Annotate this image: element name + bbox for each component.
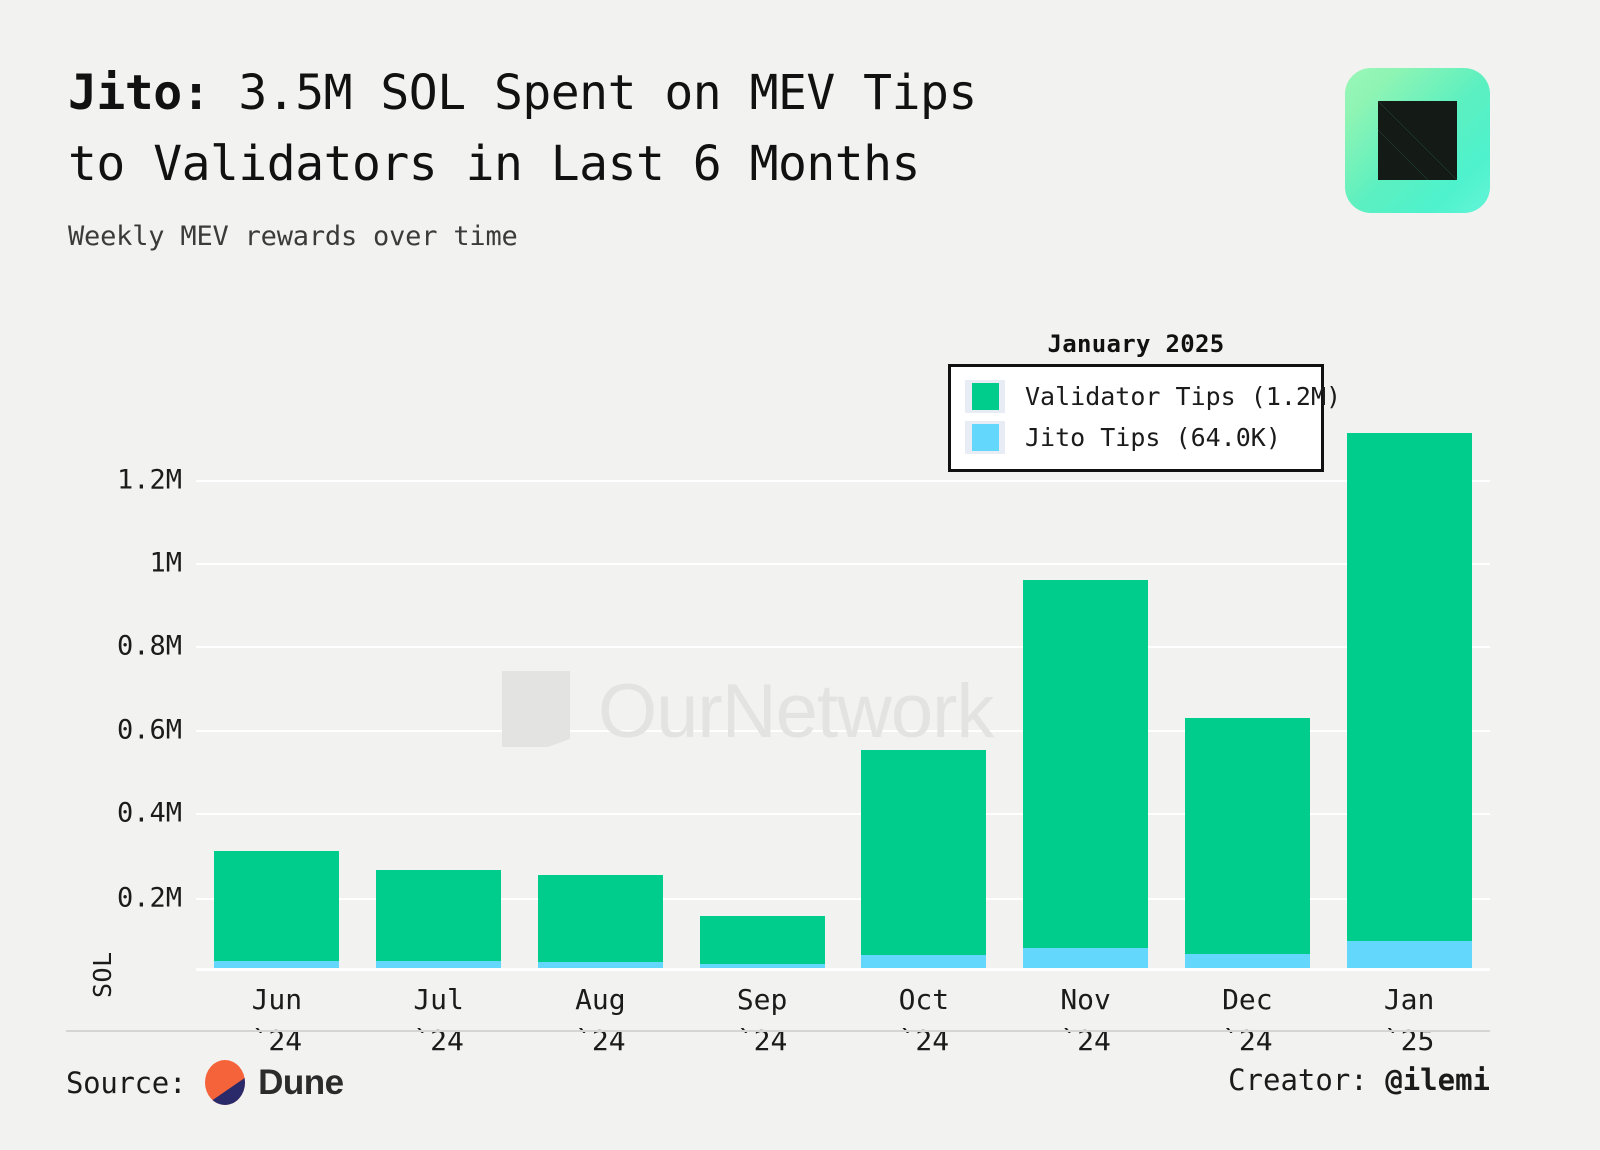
x-tick-aug: Aug`24: [520, 980, 682, 1061]
x-tick-month: Oct: [899, 983, 950, 1016]
source-label: Source:: [66, 1066, 186, 1100]
stacked-bar[interactable]: [861, 750, 986, 968]
stacked-bar[interactable]: [1023, 580, 1148, 968]
bar-segment-jito-tips[interactable]: [1185, 954, 1310, 968]
x-tick-nov: Nov`24: [1005, 980, 1167, 1061]
legend-label: Validator Tips (1.2M): [1025, 382, 1341, 411]
bar-segment-jito-tips[interactable]: [861, 955, 986, 968]
bar-group-aug[interactable]: [520, 390, 682, 968]
x-tick-month: Jun: [252, 983, 303, 1016]
y-tick-label: 0.2M: [117, 883, 182, 914]
x-tick-month: Jul: [413, 983, 464, 1016]
bar-segment-validator-tips[interactable]: [861, 750, 986, 955]
y-tick-label: 0.8M: [117, 631, 182, 662]
bar-group-nov[interactable]: [1005, 390, 1167, 968]
y-tick-label: 1.2M: [117, 465, 182, 496]
jito-tips-swatch: [965, 421, 1005, 454]
x-tick-jun: Jun`24: [196, 980, 358, 1061]
bar-segment-jito-tips[interactable]: [1023, 948, 1148, 968]
legend-title: January 2025: [948, 330, 1324, 358]
stacked-bar[interactable]: [1347, 433, 1472, 968]
page-subtitle: Weekly MEV rewards over time: [68, 221, 1368, 252]
legend-item-jito-tips[interactable]: Jito Tips (64.0K): [965, 417, 1307, 458]
x-tick-month: Jan: [1384, 983, 1435, 1016]
x-tick-month: Dec: [1222, 983, 1273, 1016]
bar-series-container: [196, 390, 1490, 968]
footer-divider: [66, 1030, 1490, 1032]
legend-item-validator-tips[interactable]: Validator Tips (1.2M): [965, 376, 1307, 417]
bar-segment-jito-tips[interactable]: [1347, 941, 1472, 968]
x-tick-oct: Oct`24: [843, 980, 1005, 1061]
x-tick-month: Nov: [1060, 983, 1111, 1016]
legend-box: Validator Tips (1.2M) Jito Tips (64.0K): [948, 364, 1324, 472]
x-tick-month: Sep: [737, 983, 788, 1016]
y-tick-label: 0.6M: [117, 715, 182, 746]
stacked-bar[interactable]: [376, 870, 501, 968]
creator-attribution: Creator: @ilemi: [1228, 1063, 1490, 1097]
bar-segment-validator-tips[interactable]: [214, 851, 339, 961]
stacked-bar[interactable]: [214, 851, 339, 968]
y-tick-label: 1M: [149, 548, 182, 579]
bar-segment-validator-tips[interactable]: [538, 875, 663, 962]
y-axis-title: SOL: [88, 951, 117, 998]
bar-segment-jito-tips[interactable]: [376, 961, 501, 968]
header: Jito: 3.5M SOL Spent on MEV Tips to Vali…: [68, 58, 1368, 252]
bar-group-jan[interactable]: [1328, 390, 1490, 968]
bar-segment-validator-tips[interactable]: [1185, 718, 1310, 954]
source-attribution: Source: Dune: [66, 1059, 344, 1106]
bar-group-jun[interactable]: [196, 390, 358, 968]
stacked-bar[interactable]: [1185, 718, 1310, 968]
stacked-bar[interactable]: [700, 916, 825, 968]
footer: Source: Dune Creator: @ilemi: [66, 1055, 1490, 1115]
ournetwork-logo-icon: [1345, 68, 1490, 213]
bar-group-sep[interactable]: [681, 390, 843, 968]
x-axis-labels: Jun`24 Jul`24 Aug`24 Sep`24 Oct`24 Nov`2…: [196, 980, 1490, 1061]
legend-label: Jito Tips (64.0K): [1025, 423, 1281, 452]
x-tick-sep: Sep`24: [681, 980, 843, 1061]
x-tick-month: Aug: [575, 983, 626, 1016]
creator-label: Creator:: [1228, 1063, 1368, 1097]
bar-segment-jito-tips[interactable]: [214, 961, 339, 968]
source-name: Dune: [258, 1063, 344, 1103]
stacked-bar[interactable]: [538, 875, 663, 968]
plot-area: 1.2M 1M 0.8M 0.6M 0.4M 0.2M: [196, 390, 1490, 968]
bar-group-oct[interactable]: [843, 390, 1005, 968]
bar-segment-validator-tips[interactable]: [376, 870, 501, 961]
validator-tips-swatch: [965, 380, 1005, 413]
chart-page: Jito: 3.5M SOL Spent on MEV Tips to Vali…: [0, 0, 1600, 1150]
x-axis-baseline: [196, 968, 1490, 971]
page-title: Jito: 3.5M SOL Spent on MEV Tips to Vali…: [68, 58, 1368, 199]
x-tick-jan: Jan`25: [1328, 980, 1490, 1061]
creator-handle: @ilemi: [1385, 1063, 1490, 1097]
chart-legend: January 2025 Validator Tips (1.2M) Jito …: [948, 330, 1324, 472]
bar-chart: SOL 1.2M 1M 0.8M 0.6M 0.4M 0.2M: [0, 330, 1600, 1030]
title-lead: Jito:: [68, 65, 210, 121]
bar-segment-validator-tips[interactable]: [1023, 580, 1148, 948]
bar-group-dec[interactable]: [1167, 390, 1329, 968]
bar-segment-validator-tips[interactable]: [700, 916, 825, 964]
x-tick-dec: Dec`24: [1167, 980, 1329, 1061]
y-tick-label: 0.4M: [117, 798, 182, 829]
bar-group-jul[interactable]: [358, 390, 520, 968]
x-tick-jul: Jul`24: [358, 980, 520, 1061]
dune-logo-icon: [204, 1059, 246, 1106]
bar-segment-validator-tips[interactable]: [1347, 433, 1472, 941]
